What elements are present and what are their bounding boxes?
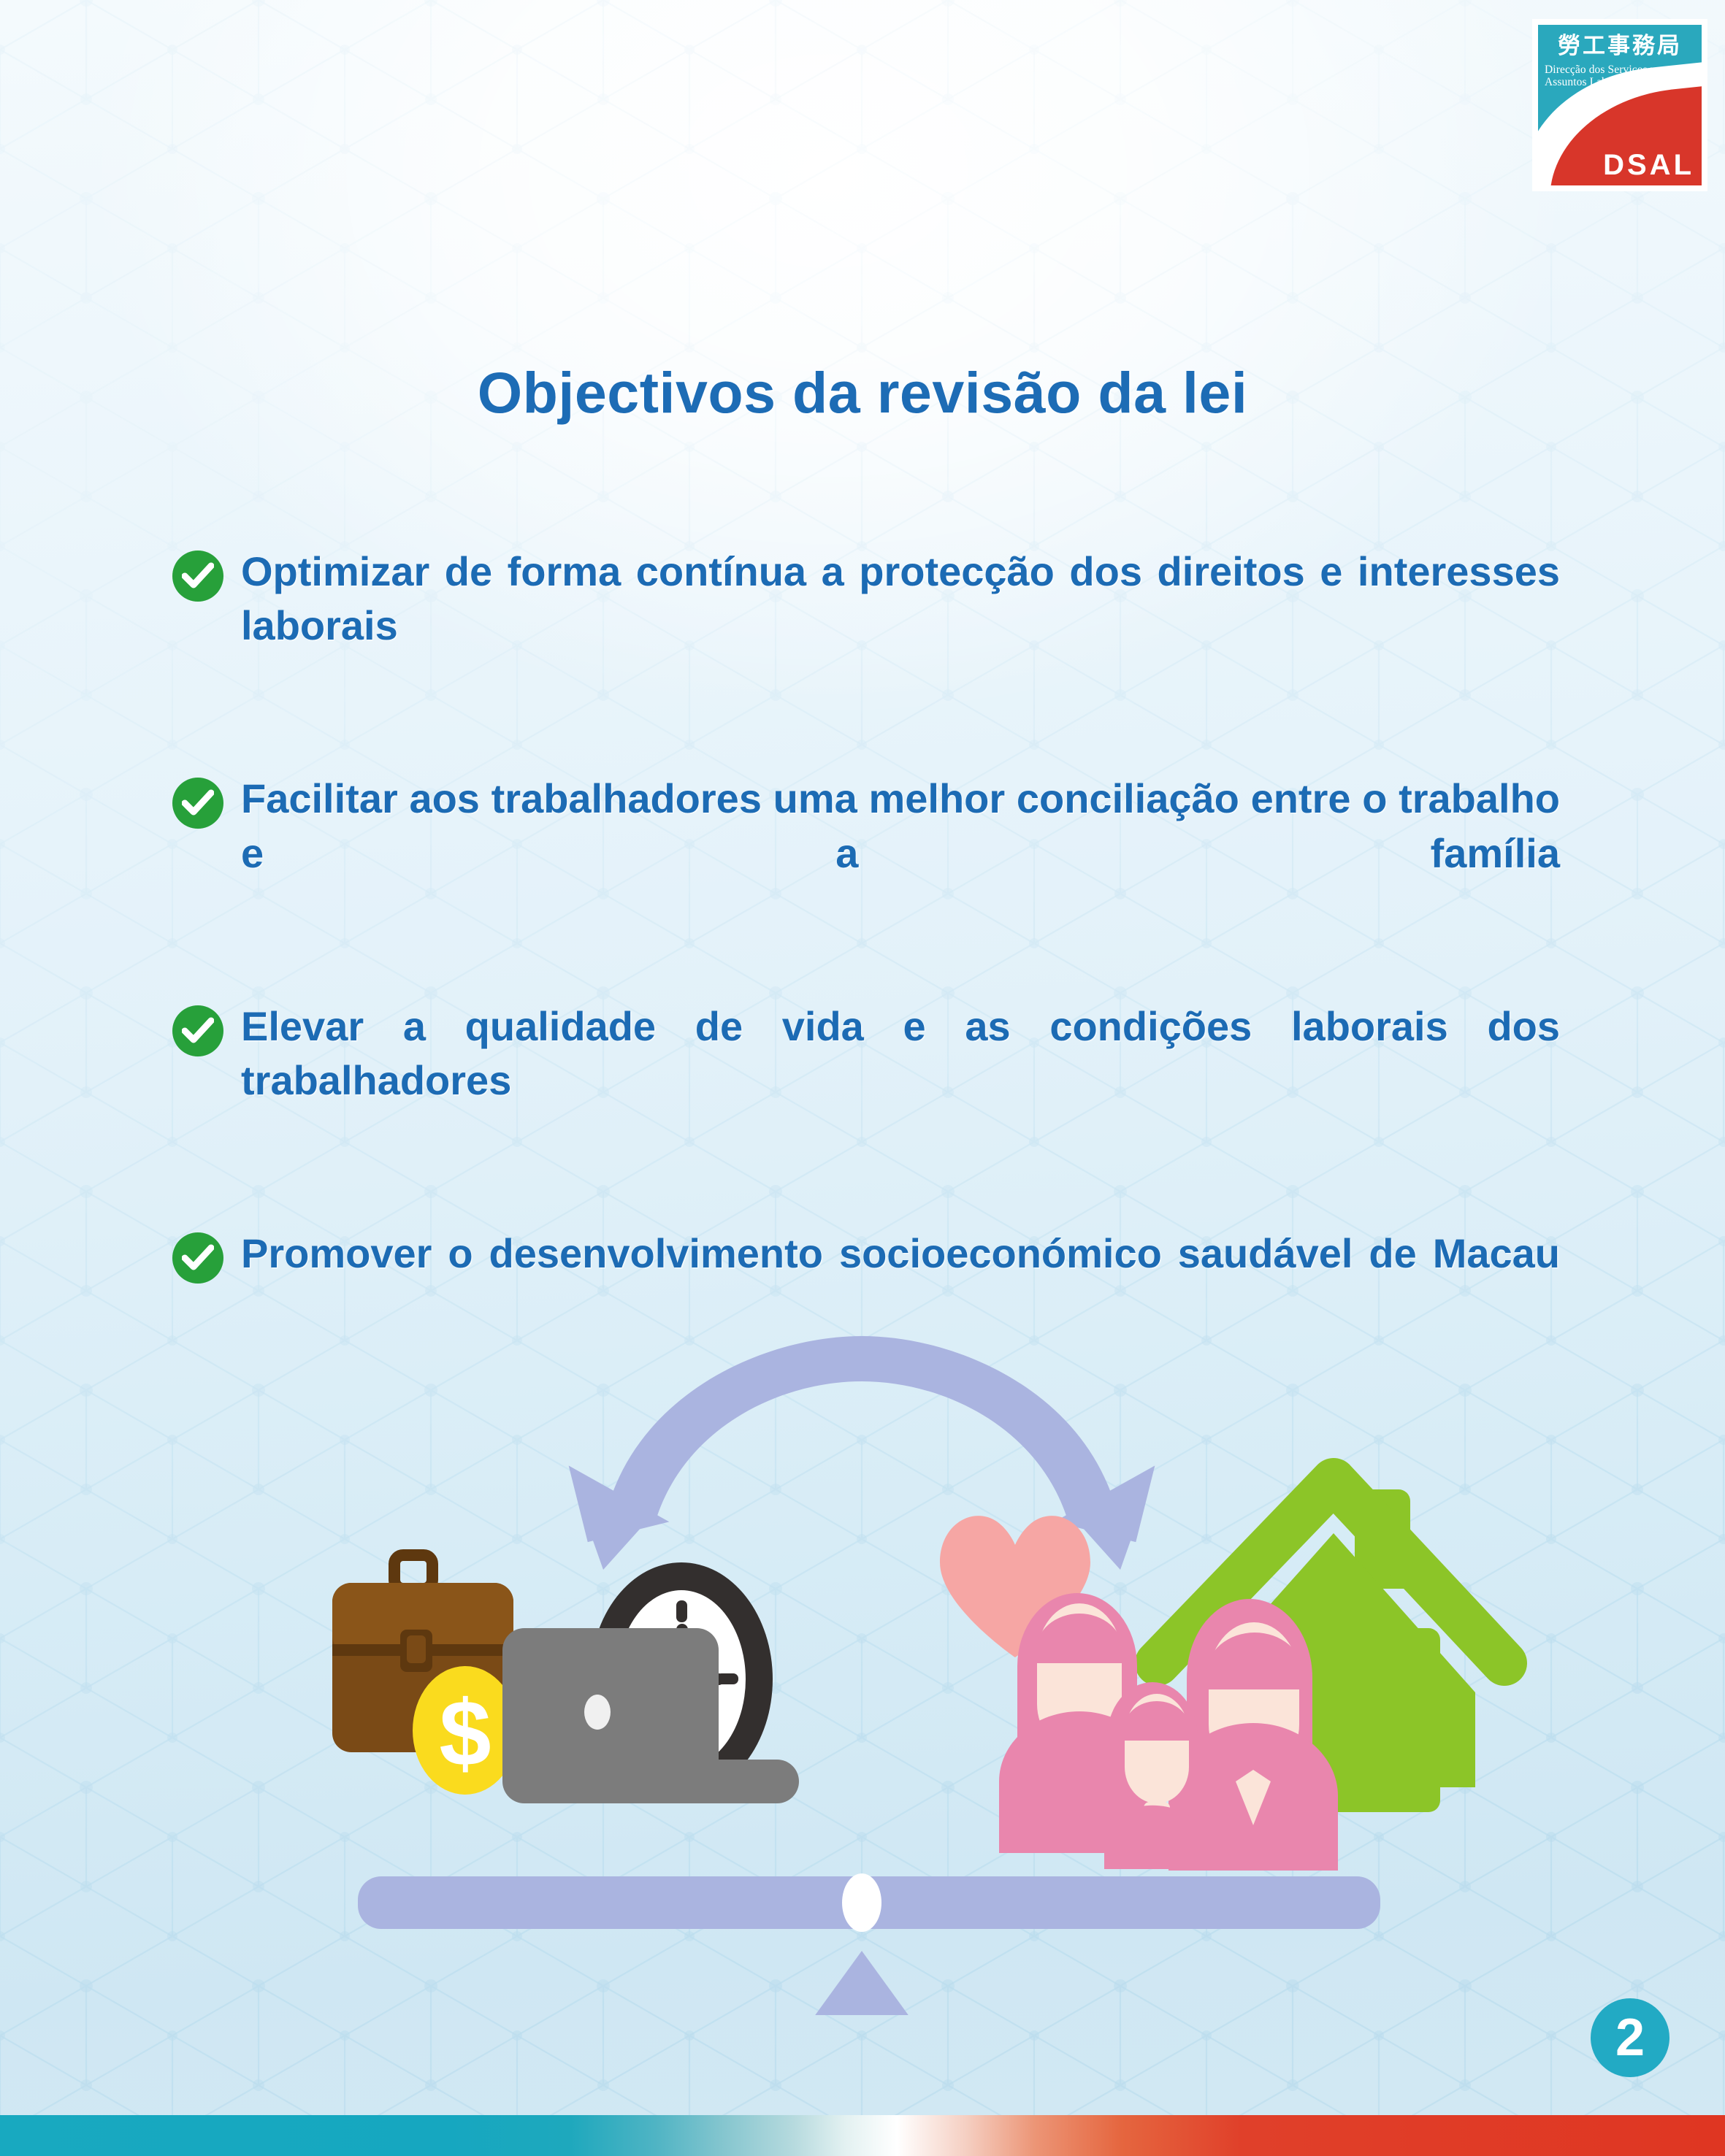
page-number-badge: 2 xyxy=(1591,1998,1669,2077)
svg-text:$: $ xyxy=(439,1681,491,1786)
logo-acronym: DSAL xyxy=(1603,150,1694,180)
fulcrum-triangle xyxy=(751,1951,972,2015)
work-life-balance-illustration: $ xyxy=(0,1314,1725,2015)
pivot-dot xyxy=(842,1873,881,1932)
page-title: Objectivos da revisão da lei xyxy=(0,359,1725,426)
check-circle-icon xyxy=(172,778,223,829)
dollar-coin-icon: $ xyxy=(413,1666,518,1795)
slide-root: 勞工事務局 Direcção dos Serviços para os Assu… xyxy=(0,0,1725,2156)
list-item: Elevar a qualidade de vida e as condiçõe… xyxy=(172,1000,1560,1162)
check-circle-icon xyxy=(172,1232,223,1284)
objective-text: Facilitar aos trabalhadores uma melhor c… xyxy=(241,772,1560,935)
dsal-logo: 勞工事務局 Direcção dos Serviços para os Assu… xyxy=(1532,19,1707,191)
check-circle-icon xyxy=(172,1005,223,1056)
logo-portuguese-line2: Assuntos Laborais xyxy=(1545,77,1697,89)
logo-portuguese-name: Direcção dos Serviços para os Assuntos L… xyxy=(1545,64,1697,88)
footer-gradient-bar xyxy=(0,2115,1725,2156)
objective-text: Elevar a qualidade de vida e as condiçõe… xyxy=(241,1000,1560,1162)
logo-portuguese-line1: Direcção dos Serviços para os xyxy=(1545,64,1697,77)
check-circle-icon xyxy=(172,550,223,602)
list-item: Facilitar aos trabalhadores uma melhor c… xyxy=(172,772,1560,935)
logo-chinese-name: 勞工事務局 xyxy=(1538,35,1702,58)
objective-text: Optimizar de forma contínua a protecção … xyxy=(241,545,1560,707)
objectives-list: Optimizar de forma contínua a protecção … xyxy=(172,545,1560,1400)
logo-inner: 勞工事務局 Direcção dos Serviços para os Assu… xyxy=(1538,25,1702,185)
list-item: Optimizar de forma contínua a protecção … xyxy=(172,545,1560,707)
